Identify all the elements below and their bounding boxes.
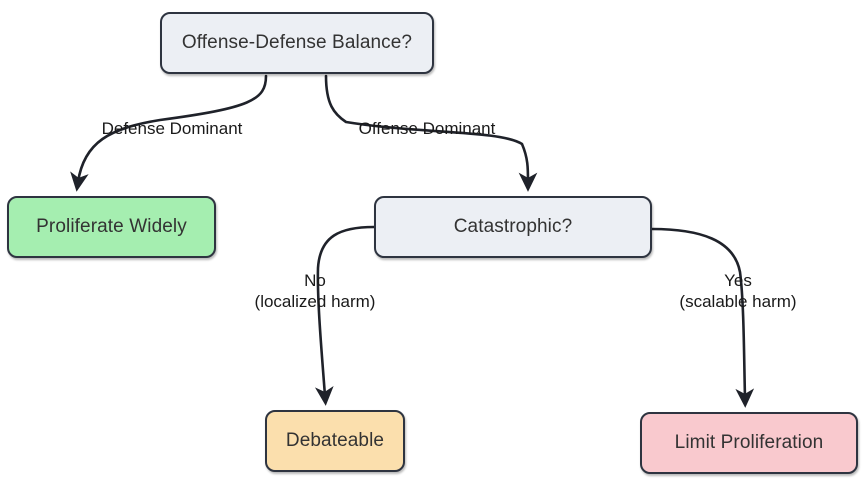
edge-label-offense-dominant: Offense Dominant xyxy=(359,118,496,139)
node-label: Limit Proliferation xyxy=(675,432,824,454)
node-label: Offense-Defense Balance? xyxy=(182,32,412,54)
edge-label-line2: (localized harm) xyxy=(255,291,376,312)
edge-yes xyxy=(652,229,745,398)
edge-label-line1: Offense Dominant xyxy=(359,118,496,139)
node-debateable[interactable]: Debateable xyxy=(265,410,405,472)
edge-label-line1: Yes xyxy=(679,270,796,291)
node-label: Catastrophic? xyxy=(454,216,573,238)
node-catastrophic[interactable]: Catastrophic? xyxy=(374,196,652,258)
edge-label-line2: (scalable harm) xyxy=(679,291,796,312)
edge-label-defense-dominant: Defense Dominant xyxy=(102,118,243,139)
node-offense-defense-balance[interactable]: Offense-Defense Balance? xyxy=(160,12,434,74)
node-label: Proliferate Widely xyxy=(36,216,187,238)
flowchart-canvas: Offense-Defense Balance? Proliferate Wid… xyxy=(0,0,868,488)
node-label: Debateable xyxy=(286,430,384,452)
edge-label-line1: Defense Dominant xyxy=(102,118,243,139)
edge-label-yes-scalable-harm: Yes (scalable harm) xyxy=(679,270,796,312)
node-proliferate-widely[interactable]: Proliferate Widely xyxy=(7,196,216,258)
node-limit-proliferation[interactable]: Limit Proliferation xyxy=(640,412,858,474)
edge-label-no-localized-harm: No (localized harm) xyxy=(255,270,376,312)
edge-label-line1: No xyxy=(255,270,376,291)
